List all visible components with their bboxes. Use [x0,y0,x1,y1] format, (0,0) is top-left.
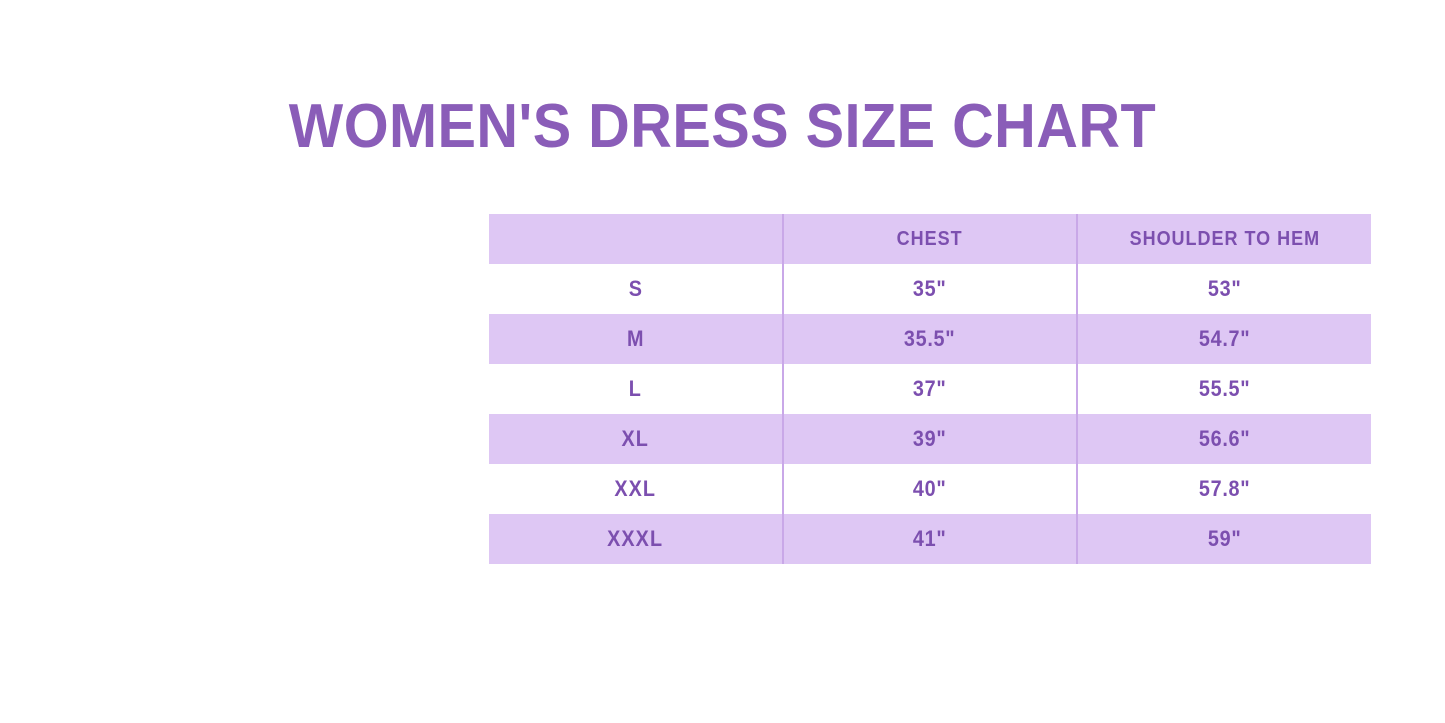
cell-chest-value: 40" [913,476,947,502]
column-header-chest: CHEST [783,214,1077,264]
cell-size: M [489,314,783,364]
cell-shoulder-to-hem: 57.8" [1077,464,1371,514]
cell-chest-value: 41" [913,526,947,552]
table-row: M 35.5" 54.7" [489,314,1371,364]
page-title: WOMEN'S DRESS SIZE CHART [51,94,1395,159]
cell-chest-value: 37" [913,376,947,402]
column-header-shoulder-to-hem: SHOULDER TO HEM [1077,214,1371,264]
cell-size: XXXL [489,514,783,564]
table-row: S 35" 53" [489,264,1371,314]
cell-chest: 41" [783,514,1077,564]
cell-shoulder-to-hem-value: 56.6" [1199,426,1251,452]
cell-chest: 35.5" [783,314,1077,364]
cell-size: XXL [489,464,783,514]
cell-size: S [489,264,783,314]
cell-size: XL [489,414,783,464]
column-header-shoulder-to-hem-label: SHOULDER TO HEM [1129,228,1320,251]
cell-size-value: XXXL [607,526,663,552]
cell-chest: 35" [783,264,1077,314]
size-chart-page: WOMEN'S DRESS SIZE CHART CHEST SHOULDER … [0,0,1445,723]
cell-size-value: XXL [615,476,657,502]
table-body: S 35" 53" M 35.5" [489,264,1371,564]
table-row: XXL 40" 57.8" [489,464,1371,514]
size-chart-table-container: CHEST SHOULDER TO HEM S 35" 53" [489,214,1371,564]
table-row: XXXL 41" 59" [489,514,1371,564]
cell-shoulder-to-hem-value: 54.7" [1199,326,1251,352]
cell-shoulder-to-hem: 56.6" [1077,414,1371,464]
cell-shoulder-to-hem-value: 55.5" [1199,376,1251,402]
cell-chest: 40" [783,464,1077,514]
cell-chest-value: 35.5" [904,326,956,352]
cell-size: L [489,364,783,414]
column-header-chest-label: CHEST [897,228,963,251]
cell-chest: 37" [783,364,1077,414]
size-chart-table: CHEST SHOULDER TO HEM S 35" 53" [489,214,1371,564]
cell-shoulder-to-hem: 54.7" [1077,314,1371,364]
cell-shoulder-to-hem-value: 59" [1208,526,1242,552]
cell-shoulder-to-hem: 53" [1077,264,1371,314]
cell-shoulder-to-hem-value: 57.8" [1199,476,1251,502]
cell-size-value: L [629,376,642,402]
cell-shoulder-to-hem-value: 53" [1208,276,1242,302]
cell-size-value: M [627,326,645,352]
table-row: L 37" 55.5" [489,364,1371,414]
cell-chest: 39" [783,414,1077,464]
column-header-size [489,214,783,264]
table-row: XL 39" 56.6" [489,414,1371,464]
cell-shoulder-to-hem: 59" [1077,514,1371,564]
table-header-row: CHEST SHOULDER TO HEM [489,214,1371,264]
cell-chest-value: 35" [913,276,947,302]
cell-shoulder-to-hem: 55.5" [1077,364,1371,414]
table-header: CHEST SHOULDER TO HEM [489,214,1371,264]
cell-size-value: S [628,276,642,302]
cell-chest-value: 39" [913,426,947,452]
cell-size-value: XL [622,426,649,452]
